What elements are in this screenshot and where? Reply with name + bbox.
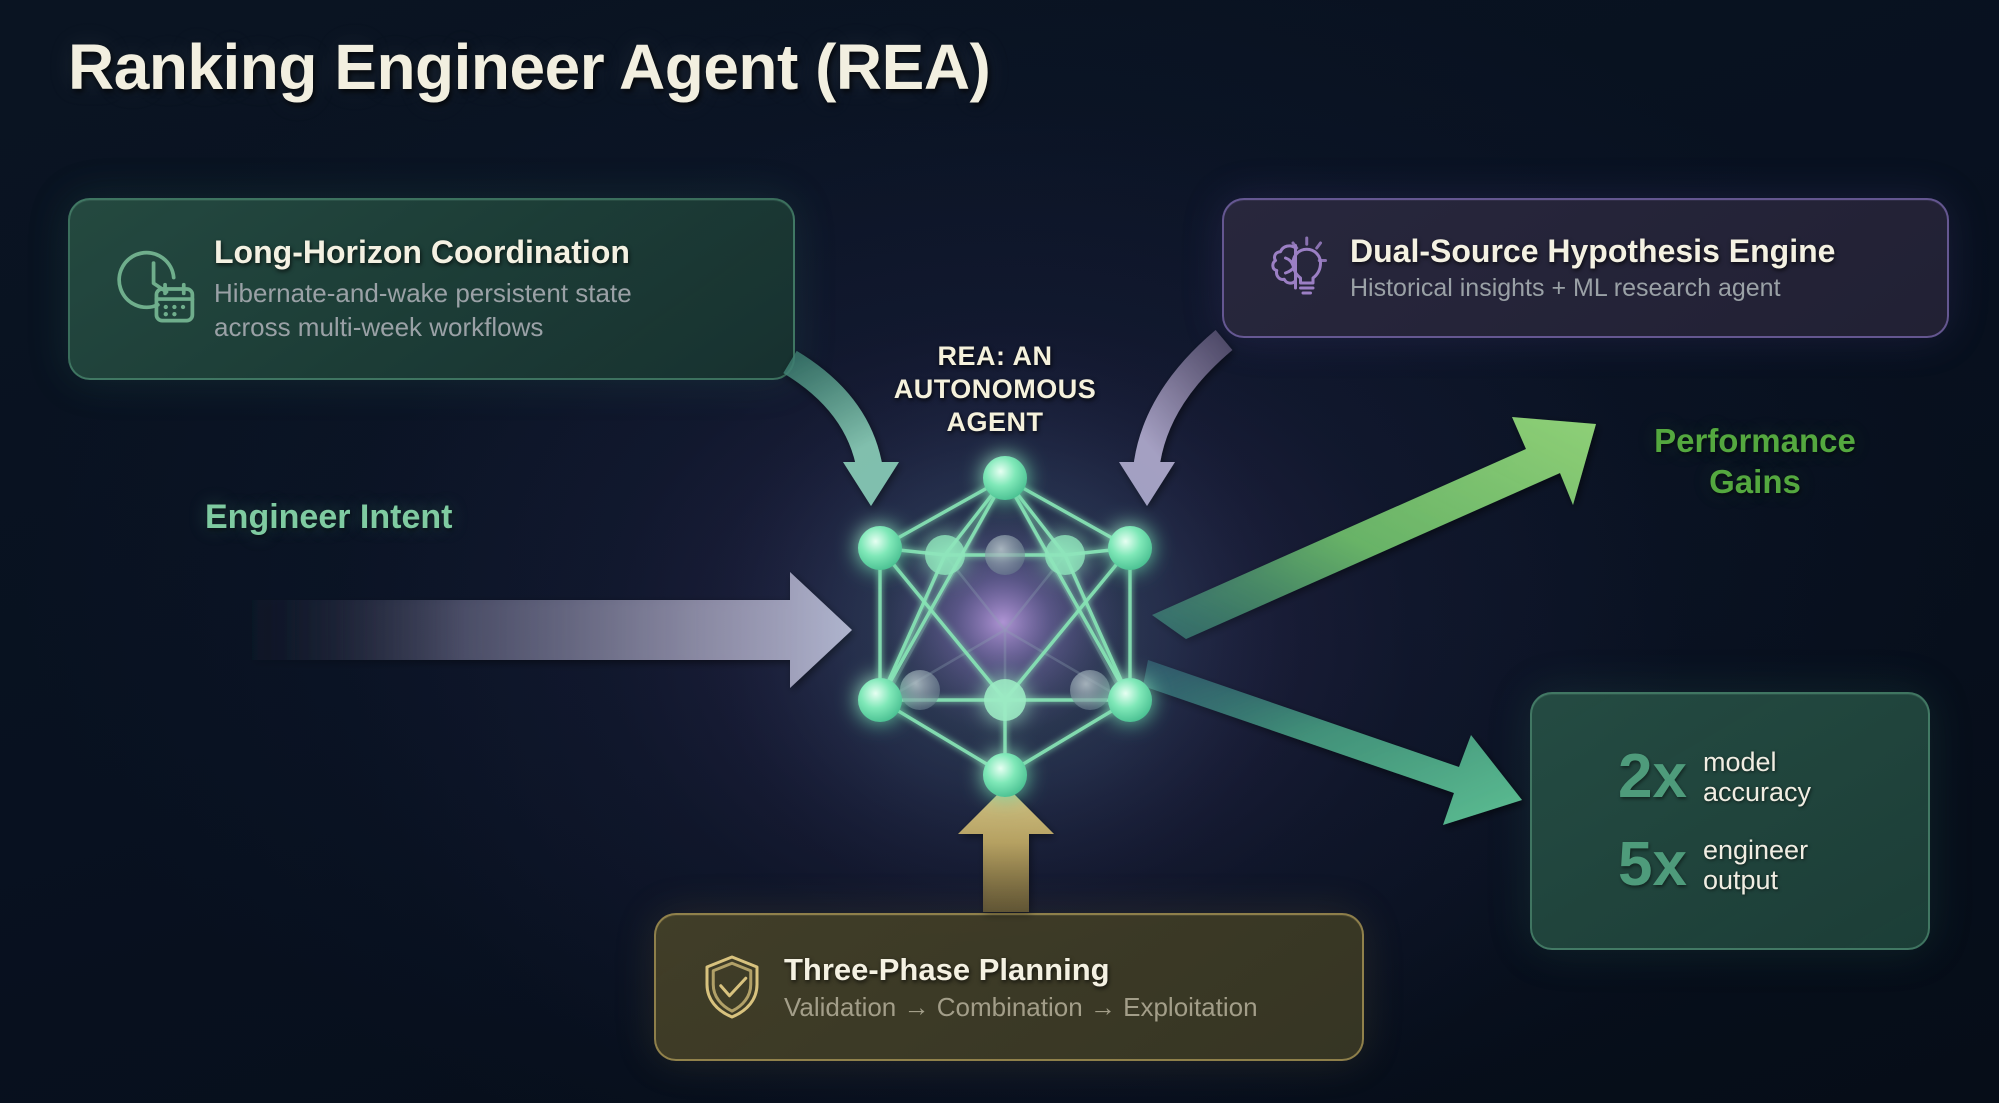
card-dual-source-subtitle: Historical insights + ML research agent [1350, 274, 1835, 303]
metric-value: 5x [1618, 834, 1687, 896]
card-long-horizon-text: Long-Horizon Coordination Hibernate-and-… [214, 234, 632, 344]
page-title: Ranking Engineer Agent (REA) [68, 30, 990, 104]
metrics-arrow [1143, 660, 1522, 825]
metric-label-line2: accuracy [1703, 777, 1811, 807]
clock-calendar-icon [96, 230, 214, 348]
center-label-line1: REA: AN [880, 340, 1110, 373]
card-dual-source-text: Dual-Source Hypothesis Engine Historical… [1350, 233, 1835, 303]
performance-gains-label: Performance Gains [1610, 420, 1900, 503]
center-label-line3: AGENT [880, 406, 1110, 439]
center-label: REA: AN AUTONOMOUS AGENT [880, 340, 1110, 439]
metric-label-line1: model [1703, 747, 1811, 777]
card-long-horizon-coordination[interactable]: Long-Horizon Coordination Hibernate-and-… [68, 198, 795, 380]
card-dual-source-hypothesis-engine[interactable]: Dual-Source Hypothesis Engine Historical… [1222, 198, 1949, 338]
performance-gains-arrow [1152, 417, 1596, 639]
engineer-intent-label: Engineer Intent [205, 498, 452, 537]
card-metrics[interactable]: 2x model accuracy 5x engineer output [1530, 692, 1930, 950]
card-long-horizon-subtitle-line1: Hibernate-and-wake persistent state [214, 277, 632, 310]
slide-canvas: Ranking Engineer Agent (REA) [0, 0, 1999, 1103]
center-label-line2: AUTONOMOUS [880, 373, 1110, 406]
shield-check-icon [680, 935, 784, 1039]
performance-gains-line2: Gains [1610, 461, 1900, 502]
brain-lightbulb-icon [1246, 216, 1350, 320]
performance-gains-line1: Performance [1610, 420, 1900, 461]
card-three-phase-subtitle: Validation → Combination → Exploitation [784, 992, 1258, 1023]
input-arrow [252, 572, 852, 688]
metric-value: 2x [1618, 746, 1687, 808]
card-dual-source-title: Dual-Source Hypothesis Engine [1350, 233, 1835, 270]
card-long-horizon-title: Long-Horizon Coordination [214, 234, 632, 271]
card-three-phase-text: Three-Phase Planning Validation → Combin… [784, 952, 1258, 1023]
metric-label-line2: output [1703, 865, 1808, 895]
metric-label-line1: engineer [1703, 835, 1808, 865]
card-long-horizon-subtitle-line2: across multi-week workflows [214, 311, 632, 344]
metric-row: 5x engineer output [1618, 834, 1928, 896]
three-phase-arrow [958, 786, 1054, 912]
card-three-phase-planning[interactable]: Three-Phase Planning Validation → Combin… [654, 913, 1364, 1061]
dual-source-arrow [1119, 340, 1224, 506]
card-three-phase-title: Three-Phase Planning [784, 952, 1258, 988]
metric-label: engineer output [1703, 835, 1808, 895]
metric-label: model accuracy [1703, 747, 1811, 807]
metric-row: 2x model accuracy [1618, 746, 1928, 808]
